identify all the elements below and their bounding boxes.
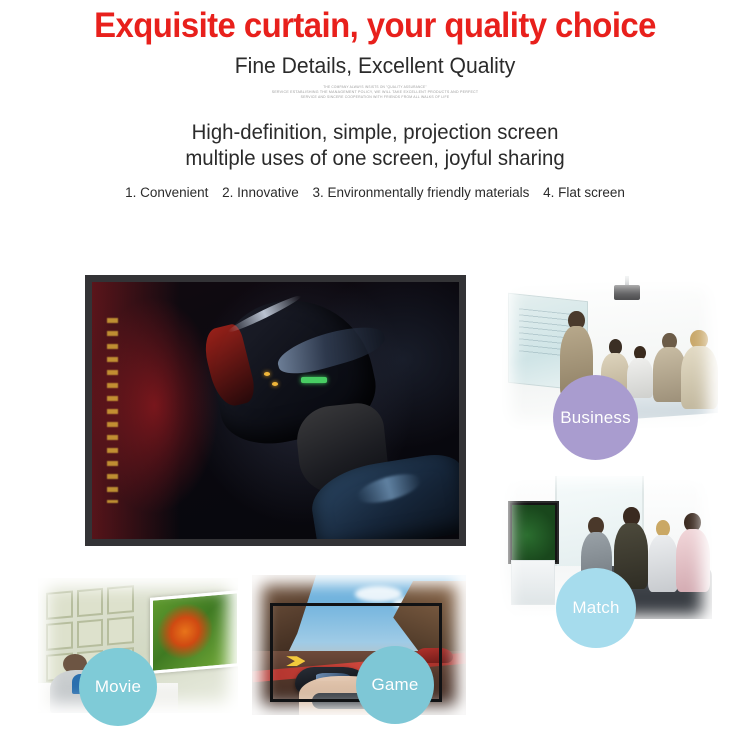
- page-title: Exquisite curtain, your quality choice: [23, 6, 728, 46]
- ceiling-projector-icon: [614, 285, 640, 299]
- viewer-person-2: [614, 507, 648, 585]
- badge-match-label: Match: [572, 598, 619, 618]
- description-line-2: multiple uses of one screen, joyful shar…: [11, 146, 739, 172]
- television-set: [508, 501, 559, 564]
- feature-item-3: 3. Environmentally friendly materials: [313, 185, 530, 200]
- attendee-person-2: [627, 346, 653, 397]
- attendee-4-body: [681, 346, 718, 408]
- feature-item-4: 4. Flat screen: [543, 185, 625, 200]
- neon-sign-strip: [107, 318, 118, 503]
- feature-item-1: 1. Convenient: [125, 185, 208, 200]
- viewer-person-3: [648, 520, 678, 588]
- fine-print-block: THE COMPANY ALWAYS INSISTS ON "QUALITY A…: [210, 85, 540, 100]
- television-screen-content: [512, 505, 555, 560]
- badge-business-label: Business: [560, 408, 631, 428]
- page-subtitle: Fine Details, Excellent Quality: [15, 52, 735, 79]
- red-backlight-wash: [92, 282, 180, 539]
- description-line-1: High-definition, simple, projection scre…: [11, 120, 739, 146]
- movie-flat-screen: [150, 590, 238, 674]
- header-text-block: Exquisite curtain, your quality choice F…: [0, 0, 750, 202]
- badge-game[interactable]: Game: [356, 646, 434, 724]
- badge-movie-label: Movie: [95, 677, 141, 697]
- viewer-3-body: [648, 535, 678, 592]
- main-product-image: [85, 275, 466, 546]
- feature-item-2: 2. Innovative: [222, 185, 299, 200]
- sci-fi-portrait-artwork: [92, 282, 459, 539]
- television-stand: [511, 560, 555, 605]
- badge-match[interactable]: Match: [556, 568, 636, 648]
- attendee-2-body: [627, 358, 653, 398]
- movie-screen-content: [153, 594, 237, 672]
- viewer-person-4: [676, 513, 710, 587]
- attendee-person-4: [681, 330, 718, 406]
- feature-list: 1. Convenient 2. Innovative 3. Environme…: [0, 184, 750, 202]
- green-indicator-glow: [301, 377, 327, 383]
- badge-movie[interactable]: Movie: [79, 648, 157, 726]
- description-block: High-definition, simple, projection scre…: [11, 120, 739, 172]
- viewer-4-body: [676, 529, 710, 592]
- fine-print-line-3: SERVICE AND SINCERE COOPERATION WITH FRI…: [210, 95, 540, 100]
- badge-game-label: Game: [371, 675, 418, 695]
- amber-indicator-glow-2: [272, 382, 278, 386]
- badge-business[interactable]: Business: [553, 375, 638, 460]
